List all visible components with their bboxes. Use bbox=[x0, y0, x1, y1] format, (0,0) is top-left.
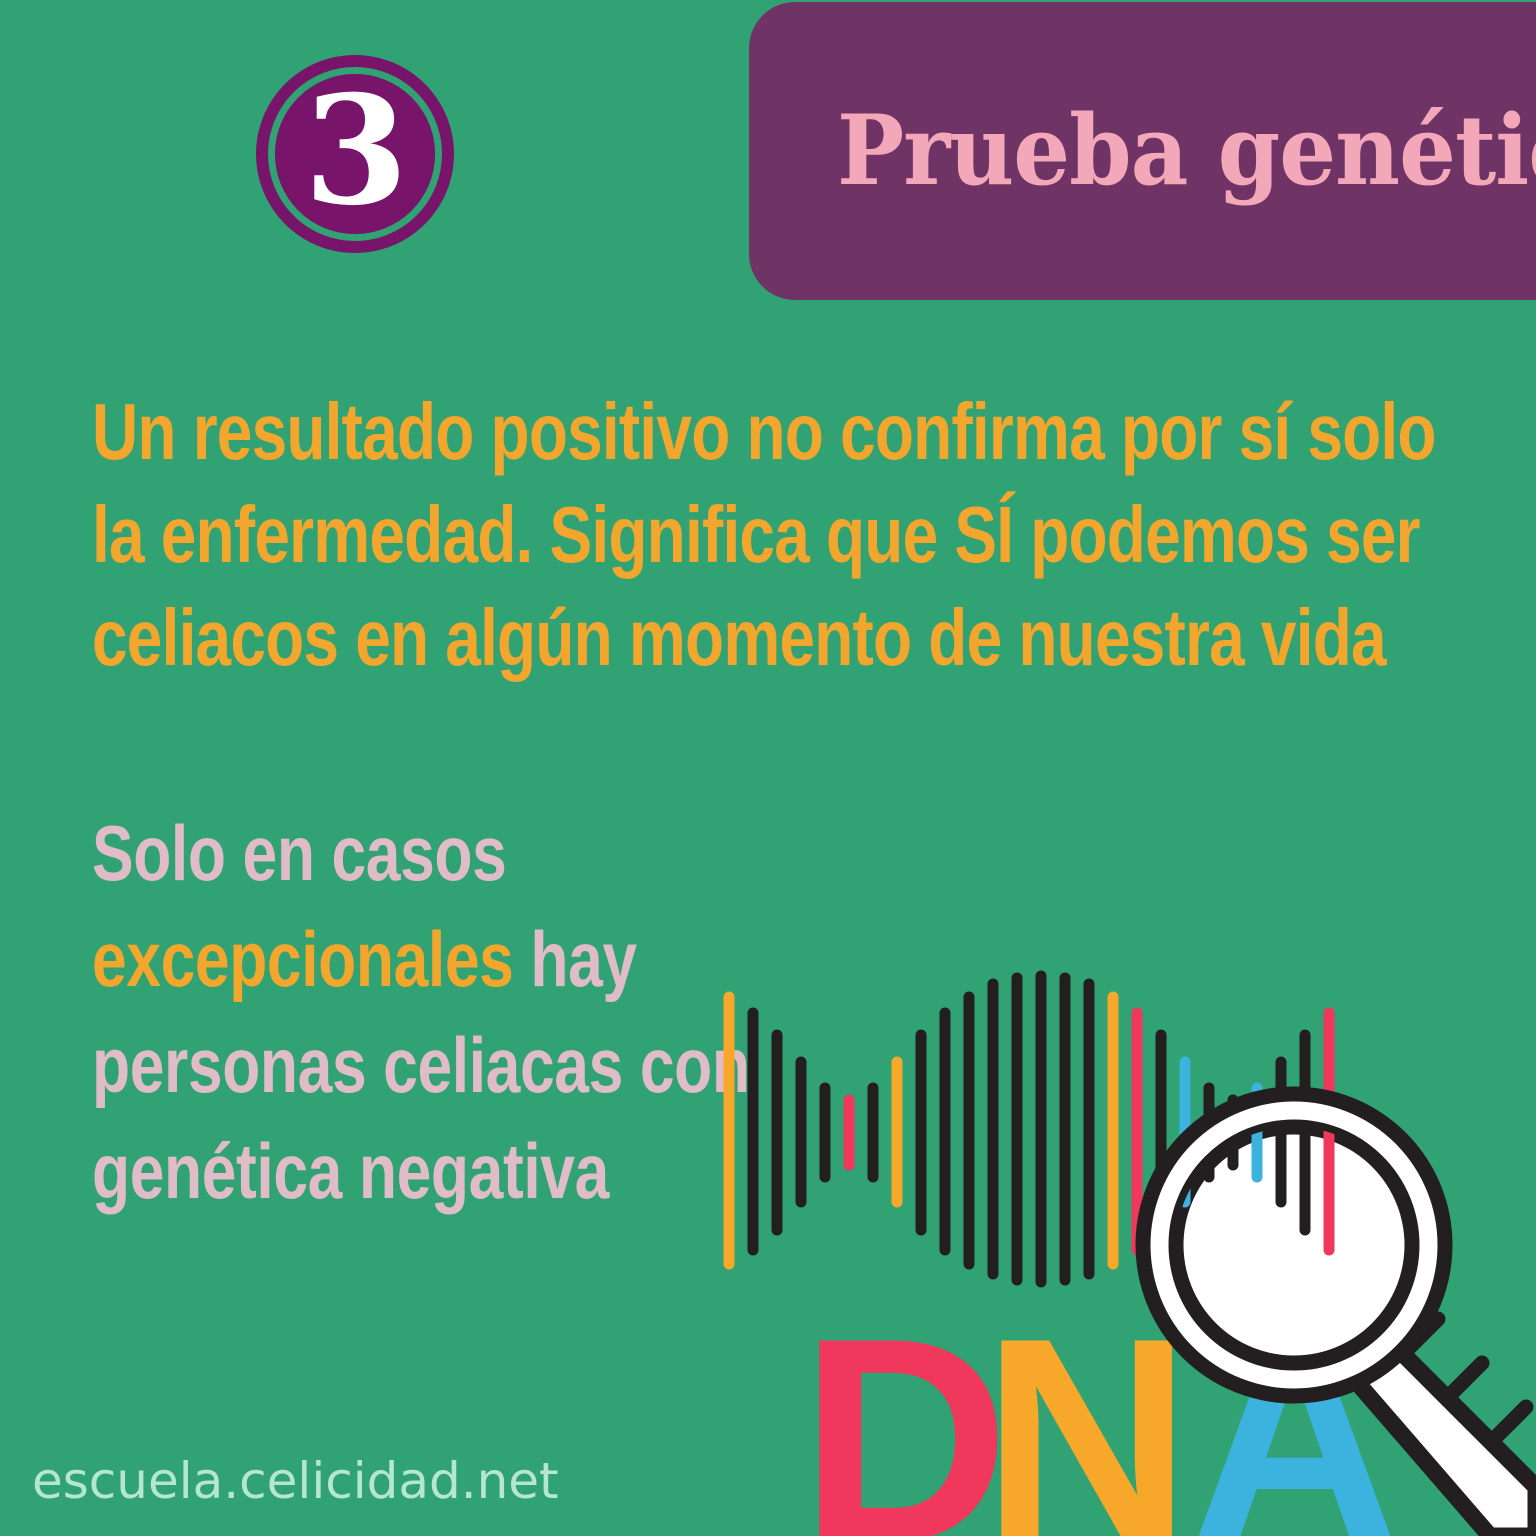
headline-text: Un resultado positivo no confirma por sí… bbox=[92, 380, 1500, 689]
badge-number-label: 3 bbox=[304, 76, 406, 226]
step-number-badge: 3 bbox=[256, 55, 454, 253]
subcopy-highlight: excepcionales bbox=[92, 915, 513, 1003]
wordmark-letter-d: D bbox=[800, 1278, 1009, 1536]
banner-title-label: Prueba genética bbox=[837, 101, 1536, 201]
footer-url-label: escuela.celicidad.net bbox=[32, 1452, 559, 1510]
title-banner: Prueba genética bbox=[749, 2, 1536, 300]
poster-canvas: 3 Prueba genética Un resultado positivo … bbox=[0, 0, 1536, 1536]
subcopy-part1: Solo en casos bbox=[92, 809, 506, 897]
dna-illustration: D N A bbox=[690, 940, 1536, 1536]
dna-illustration-svg: D N A bbox=[690, 940, 1536, 1536]
